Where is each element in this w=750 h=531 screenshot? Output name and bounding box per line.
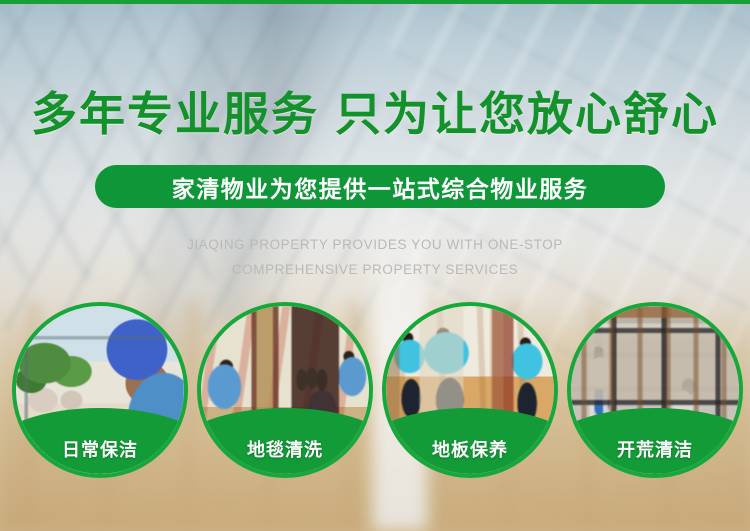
service-label-rough-cleaning: 开荒清洁 bbox=[617, 436, 693, 462]
service-item-floor-maintenance[interactable]: 地板保养 bbox=[382, 302, 558, 478]
service-label-carpet-cleaning: 地毯清洗 bbox=[247, 436, 323, 462]
english-subtitle: JIAQING PROPERTY PROVIDES YOU WITH ONE-S… bbox=[0, 232, 750, 282]
service-item-rough-cleaning[interactable]: 开荒清洁 bbox=[567, 302, 743, 478]
tagline-text: 家清物业为您提供一站式综合物业服务 bbox=[172, 170, 589, 204]
service-circles-row: 日常保洁 地毯清洗 地板保养 bbox=[0, 302, 750, 492]
headline-part-1: 多年专业服务 bbox=[31, 88, 319, 140]
top-accent-bar bbox=[0, 0, 750, 4]
service-item-carpet-cleaning[interactable]: 地毯清洗 bbox=[197, 302, 373, 478]
service-label-floor-maintenance: 地板保养 bbox=[432, 436, 508, 462]
headline-part-2: 只为让您放心舒心 bbox=[335, 88, 719, 140]
page-title: 多年专业服务只为让您放心舒心 bbox=[0, 86, 750, 142]
service-item-daily-cleaning[interactable]: 日常保洁 bbox=[12, 302, 188, 478]
english-subtitle-line-1: JIAQING PROPERTY PROVIDES YOU WITH ONE-S… bbox=[0, 232, 750, 257]
tagline-pill: 家清物业为您提供一站式综合物业服务 bbox=[95, 165, 665, 208]
service-label-daily-cleaning: 日常保洁 bbox=[62, 436, 138, 462]
english-subtitle-line-2: COMPREHENSIVE PROPERTY SERVICES bbox=[0, 257, 750, 282]
promo-banner: 多年专业服务只为让您放心舒心 家清物业为您提供一站式综合物业服务 JIAQING… bbox=[0, 0, 750, 531]
